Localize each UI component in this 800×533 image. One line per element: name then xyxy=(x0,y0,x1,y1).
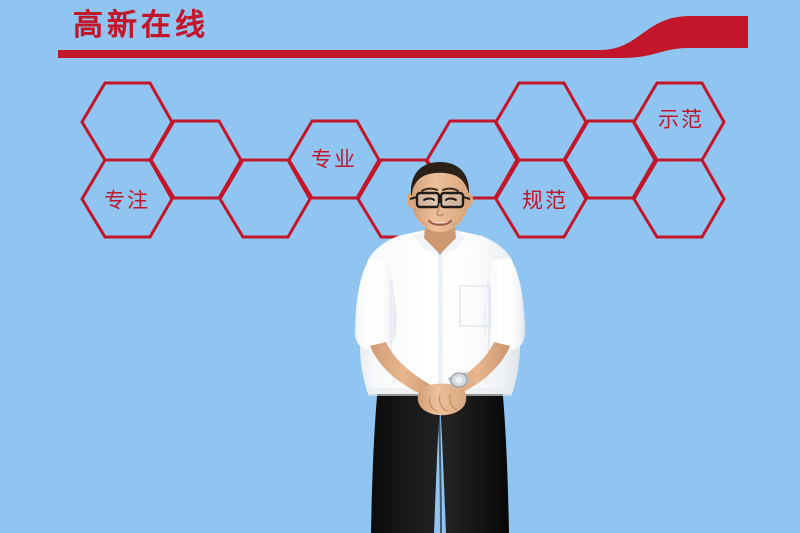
head xyxy=(407,162,473,232)
portrait-subject xyxy=(330,160,550,533)
photo-scene: 高新在线 专 xyxy=(0,0,800,533)
white-short-sleeve-shirt xyxy=(355,230,525,396)
